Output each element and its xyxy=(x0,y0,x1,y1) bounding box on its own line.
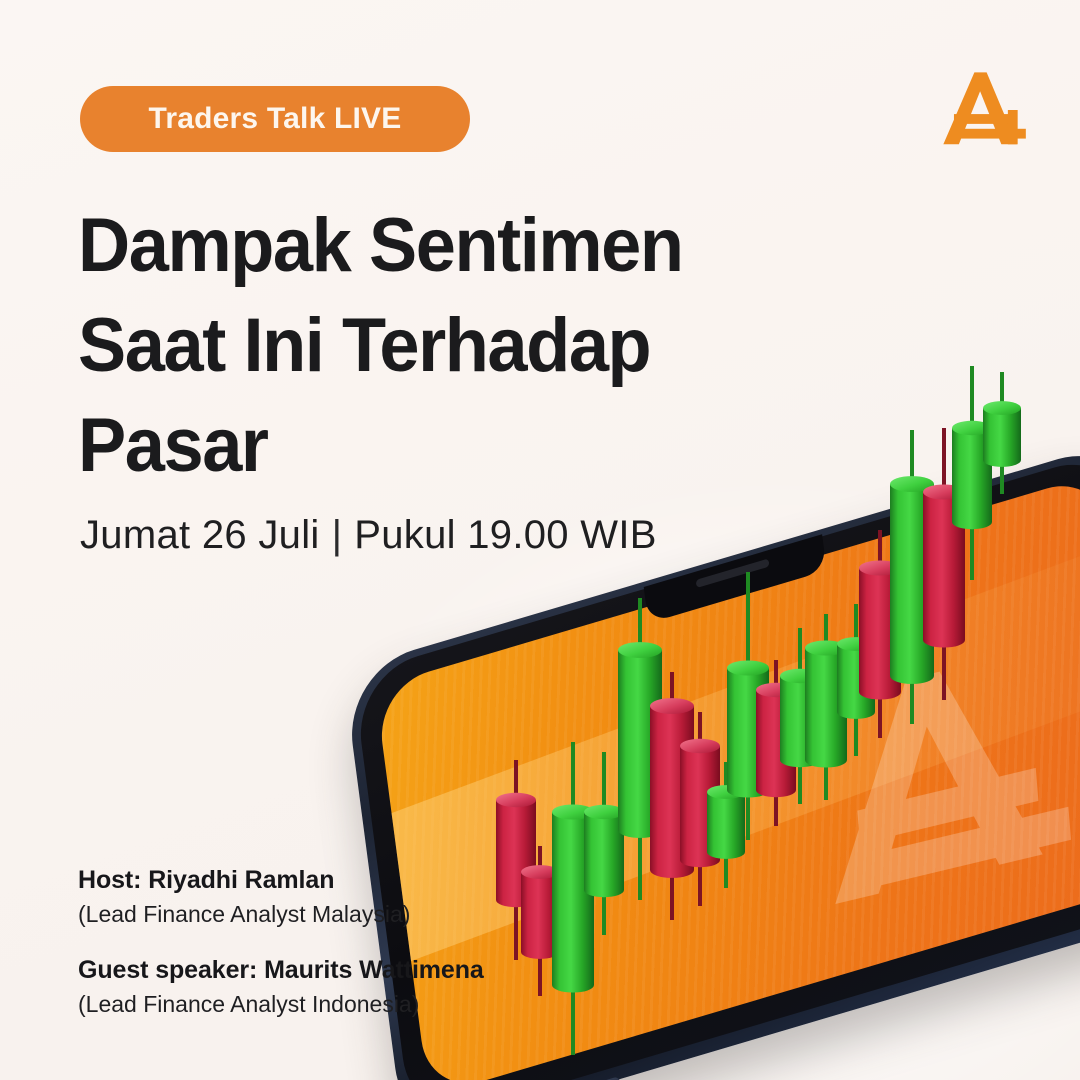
headline-line-3: Pasar xyxy=(78,396,762,496)
headline-line-2: Saat Ini Terhadap xyxy=(78,296,762,396)
page-title: Dampak Sentimen Saat Ini Terhadap Pasar xyxy=(78,196,762,496)
event-time: Pukul 19.00 WIB xyxy=(354,513,656,557)
candle-body xyxy=(983,408,1021,467)
host-role: (Lead Finance Analyst Malaysia) xyxy=(78,901,598,928)
host-name: Host: Riyadhi Ramlan xyxy=(78,866,598,895)
guest-name: Guest speaker: Maurits Wattimena xyxy=(78,956,598,985)
credit-guest: Guest speaker: Maurits Wattimena (Lead F… xyxy=(78,956,598,1018)
event-datetime: Jumat 26 Juli|Pukul 19.00 WIB xyxy=(80,513,657,558)
guest-role: (Lead Finance Analyst Indonesia) xyxy=(78,991,598,1018)
live-badge[interactable]: Traders Talk LIVE xyxy=(80,86,470,152)
event-date: Jumat 26 Juli xyxy=(80,513,320,557)
credit-host: Host: Riyadhi Ramlan (Lead Finance Analy… xyxy=(78,866,598,928)
headline-line-1: Dampak Sentimen xyxy=(78,196,762,296)
candle-top-cap xyxy=(983,401,1021,415)
promo-poster: Traders Talk LIVE Dampak Sentimen Saat I… xyxy=(0,0,1080,1080)
octa-a-logo-icon xyxy=(936,60,1034,160)
speaker-credits: Host: Riyadhi Ramlan (Lead Finance Analy… xyxy=(78,866,598,1018)
candle-top-cap xyxy=(890,476,934,492)
live-badge-label: Traders Talk LIVE xyxy=(149,102,402,136)
candle-top-cap xyxy=(952,421,992,435)
phone-speaker xyxy=(696,558,770,588)
datetime-separator: | xyxy=(332,513,343,558)
